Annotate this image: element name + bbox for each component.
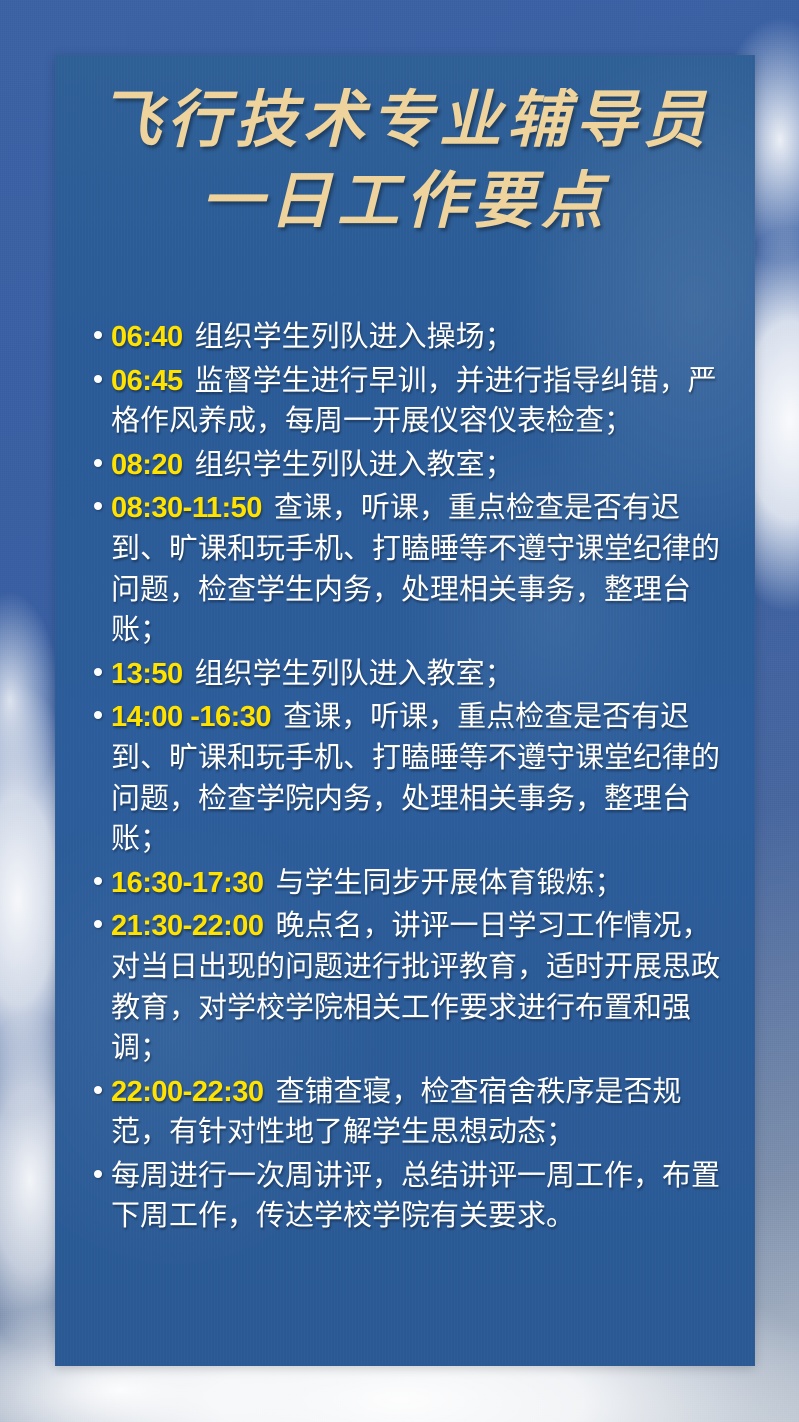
schedule-item-text: 组织学生列队进入教室； bbox=[195, 449, 514, 481]
bullet-icon bbox=[87, 906, 109, 928]
schedule-item-body: 21:30-22:00晚点名，讲评一日学习工作情况，对当日出现的问题进行批评教育… bbox=[109, 906, 729, 1068]
schedule-item-time: 16:30-17:30 bbox=[111, 867, 264, 899]
schedule-item: 13:50组织学生列队进入教室； bbox=[87, 654, 729, 695]
schedule-list: 06:40组织学生列队进入操场；06:45监督学生进行早训，并进行指导纠错，严格… bbox=[87, 317, 729, 1240]
bullet-icon bbox=[87, 488, 109, 510]
schedule-item-body: 08:30-11:50查课，听课，重点检查是否有迟到、旷课和玩手机、打瞌睡等不遵… bbox=[109, 488, 729, 650]
schedule-item-body: 16:30-17:30与学生同步开展体育锻炼； bbox=[109, 863, 729, 904]
schedule-item: 08:30-11:50查课，听课，重点检查是否有迟到、旷课和玩手机、打瞌睡等不遵… bbox=[87, 488, 729, 650]
schedule-item-time: 08:30-11:50 bbox=[111, 492, 262, 524]
schedule-item-body: 14:00 -16:30查课，听课，重点检查是否有迟到、旷课和玩手机、打瞌睡等不… bbox=[109, 697, 729, 859]
schedule-item: 06:45监督学生进行早训，并进行指导纠错，严格作风养成，每周一开展仪容仪表检查… bbox=[87, 361, 729, 442]
schedule-item-body: 每周进行一次周讲评，总结讲评一周工作，布置下周工作，传达学校学院有关要求。 bbox=[109, 1156, 729, 1237]
poster-background: 飞行技术专业辅导员 一日工作要点 06:40组织学生列队进入操场；06:45监督… bbox=[0, 0, 799, 1422]
schedule-item-text: 组织学生列队进入操场； bbox=[195, 321, 514, 353]
title-line-secondary: 一日工作要点 bbox=[55, 168, 755, 237]
schedule-item-body: 22:00-22:30查铺查寝，检查宿舍秩序是否规范，有针对性地了解学生思想动态… bbox=[109, 1072, 729, 1153]
schedule-item: 每周进行一次周讲评，总结讲评一周工作，布置下周工作，传达学校学院有关要求。 bbox=[87, 1156, 729, 1237]
bullet-icon bbox=[87, 317, 109, 339]
schedule-item: 21:30-22:00晚点名，讲评一日学习工作情况，对当日出现的问题进行批评教育… bbox=[87, 906, 729, 1068]
schedule-item-text: 监督学生进行早训，并进行指导纠错，严格作风养成，每周一开展仪容仪表检查； bbox=[111, 365, 717, 438]
bullet-icon bbox=[87, 361, 109, 383]
bullet-icon bbox=[87, 697, 109, 719]
schedule-item: 08:20组织学生列队进入教室； bbox=[87, 445, 729, 486]
poster-title: 飞行技术专业辅导员 一日工作要点 bbox=[55, 87, 755, 238]
schedule-item-text: 组织学生列队进入教室； bbox=[195, 658, 514, 690]
bullet-icon bbox=[87, 1072, 109, 1094]
schedule-item-time: 08:20 bbox=[111, 449, 183, 481]
schedule-item-time: 14:00 -16:30 bbox=[111, 701, 271, 733]
content-card: 飞行技术专业辅导员 一日工作要点 06:40组织学生列队进入操场；06:45监督… bbox=[55, 55, 755, 1366]
schedule-item-text: 每周进行一次周讲评，总结讲评一周工作，布置下周工作，传达学校学院有关要求。 bbox=[111, 1160, 720, 1233]
schedule-item-body: 13:50组织学生列队进入教室； bbox=[109, 654, 729, 695]
schedule-item-body: 06:45监督学生进行早训，并进行指导纠错，严格作风养成，每周一开展仪容仪表检查… bbox=[109, 361, 729, 442]
schedule-item-time: 06:40 bbox=[111, 321, 183, 353]
schedule-item: 06:40组织学生列队进入操场； bbox=[87, 317, 729, 358]
schedule-item: 16:30-17:30与学生同步开展体育锻炼； bbox=[87, 863, 729, 904]
schedule-item: 14:00 -16:30查课，听课，重点检查是否有迟到、旷课和玩手机、打瞌睡等不… bbox=[87, 697, 729, 859]
schedule-item: 22:00-22:30查铺查寝，检查宿舍秩序是否规范，有针对性地了解学生思想动态… bbox=[87, 1072, 729, 1153]
title-line-primary: 飞行技术专业辅导员 bbox=[55, 87, 755, 156]
schedule-item-time: 13:50 bbox=[111, 658, 183, 690]
bullet-icon bbox=[87, 445, 109, 467]
schedule-item-time: 21:30-22:00 bbox=[111, 910, 264, 942]
bullet-icon bbox=[87, 1156, 109, 1178]
bullet-icon bbox=[87, 654, 109, 676]
bullet-icon bbox=[87, 863, 109, 885]
schedule-item-text: 与学生同步开展体育锻炼； bbox=[276, 867, 624, 899]
schedule-item-body: 08:20组织学生列队进入教室； bbox=[109, 445, 729, 486]
schedule-item-body: 06:40组织学生列队进入操场； bbox=[109, 317, 729, 358]
schedule-item-time: 06:45 bbox=[111, 365, 183, 397]
schedule-item-time: 22:00-22:30 bbox=[111, 1076, 264, 1108]
